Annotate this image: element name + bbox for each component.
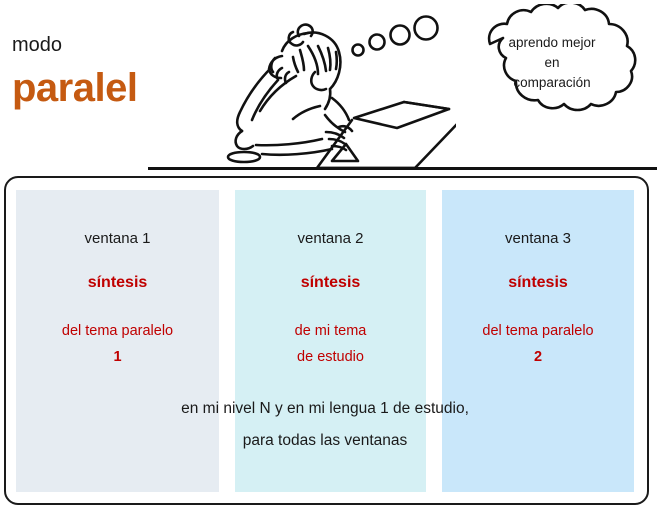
- window-column-2-sintesis: síntesis: [235, 274, 426, 292]
- window-column-1-body-line-1: del tema paralelo: [12, 318, 223, 344]
- window-column-1-title: ventana 1: [16, 230, 219, 247]
- panel-footer-note-line-1: en mi nivel N y en mi lengua 1 de estudi…: [16, 393, 634, 425]
- window-column-3-sintesis: síntesis: [442, 274, 634, 292]
- desk-line: [148, 167, 657, 170]
- window-column-2-title: ventana 2: [235, 230, 426, 247]
- student-at-laptop-illustration: [196, 2, 456, 174]
- panel-footer-note-line-2: para todas las ventanas: [16, 425, 634, 457]
- window-column-1-body-line-2: 1: [12, 344, 223, 370]
- window-column-3-body-line-1: del tema paralelo: [438, 318, 638, 344]
- thought-bubble-line-3: comparación: [468, 73, 636, 93]
- window-column-1-body: del tema paralelo 1: [12, 318, 223, 370]
- window-column-2-body: de mi tema de estudio: [231, 318, 430, 370]
- window-column-3-title: ventana 3: [442, 230, 634, 247]
- panel-footer-note: en mi nivel N y en mi lengua 1 de estudi…: [16, 393, 634, 457]
- window-column-2-body-line-2: de estudio: [231, 344, 430, 370]
- page-title: paralel: [12, 66, 137, 111]
- header-band: modo paralel: [0, 0, 657, 172]
- window-column-2-body-line-1: de mi tema: [231, 318, 430, 344]
- thought-bubble-line-2: en: [468, 53, 636, 73]
- window-column-3-body: del tema paralelo 2: [438, 318, 638, 370]
- page-label-modo: modo: [12, 34, 62, 57]
- window-column-1-sintesis: síntesis: [16, 274, 219, 292]
- thought-bubble-line-1: aprendo mejor: [468, 33, 636, 53]
- thought-bubble-text: aprendo mejor en comparación: [468, 33, 636, 93]
- window-column-3-body-line-2: 2: [438, 344, 638, 370]
